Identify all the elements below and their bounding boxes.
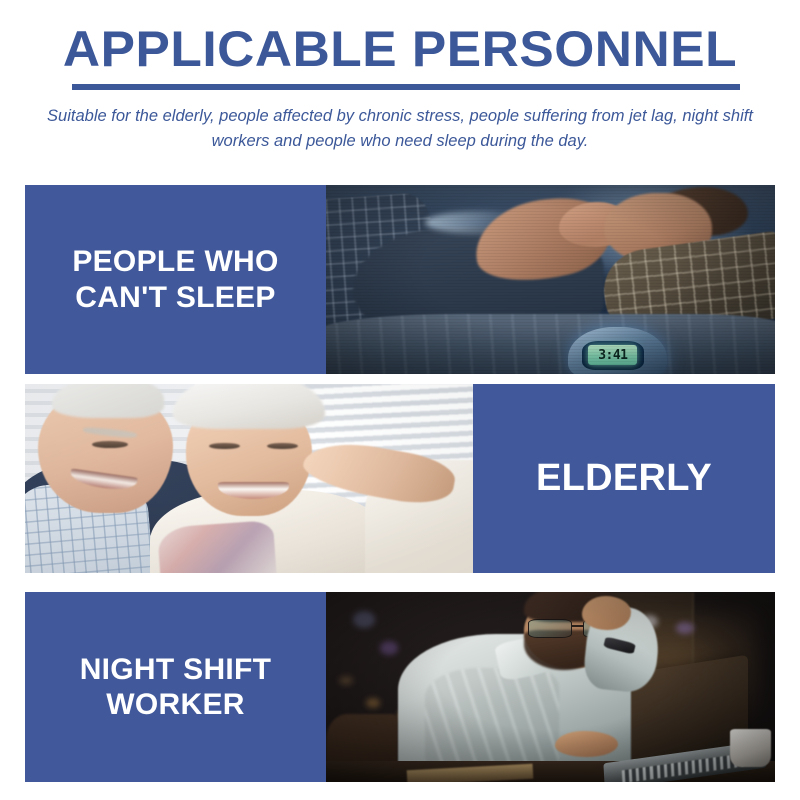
man-hand-on-keyboard	[555, 731, 618, 758]
infographic-page: APPLICABLE PERSONNEL Suitable for the el…	[0, 0, 800, 800]
alarm-clock-time-text: 3:41	[598, 349, 627, 362]
panel-1-caption-text: PEOPLE WHO CAN'T SLEEP	[72, 244, 278, 315]
eyeglass-left-lens	[528, 619, 571, 638]
elderly-couple-photo	[25, 384, 473, 573]
bed-sheet	[326, 314, 775, 374]
coffee-cup	[730, 729, 770, 767]
panel-3-caption-block: NIGHT SHIFT WORKER	[25, 592, 326, 782]
bokeh-light	[339, 676, 352, 686]
panel-night-shift-worker: NIGHT SHIFT WORKER	[25, 592, 775, 782]
panel-2-caption-text: ELDERLY	[536, 456, 712, 501]
bokeh-light	[380, 641, 398, 654]
page-title: APPLICABLE PERSONNEL	[0, 24, 800, 74]
bokeh-light	[366, 698, 379, 708]
eyeglass-bridge	[572, 625, 584, 627]
digital-alarm-clock: 3:41	[568, 327, 667, 374]
bokeh-light	[353, 611, 375, 628]
elderly-woman-hair	[173, 384, 325, 429]
alarm-clock-face: 3:41	[582, 341, 643, 371]
elderly-man-hair	[52, 384, 164, 418]
alarm-clock-lcd-screen: 3:41	[588, 345, 637, 365]
page-subtitle: Suitable for the elderly, people affecte…	[24, 104, 776, 154]
header: APPLICABLE PERSONNEL Suitable for the el…	[0, 0, 800, 180]
panel-elderly: ELDERLY	[25, 384, 775, 573]
tired-man-at-laptop-photo	[326, 592, 775, 782]
bokeh-light	[676, 622, 694, 633]
sleepless-woman-in-bed-photo: 3:41	[326, 185, 775, 374]
shirt-folds	[425, 668, 560, 767]
panel-people-who-cant-sleep: PEOPLE WHO CAN'T SLEEP 3:41	[25, 185, 775, 374]
man-hand-on-head	[582, 596, 631, 630]
title-underline-rule	[72, 84, 740, 90]
panel-1-caption-block: PEOPLE WHO CAN'T SLEEP	[25, 185, 326, 374]
panel-2-caption-block: ELDERLY	[473, 384, 775, 573]
panel-3-caption-text: NIGHT SHIFT WORKER	[80, 652, 272, 723]
